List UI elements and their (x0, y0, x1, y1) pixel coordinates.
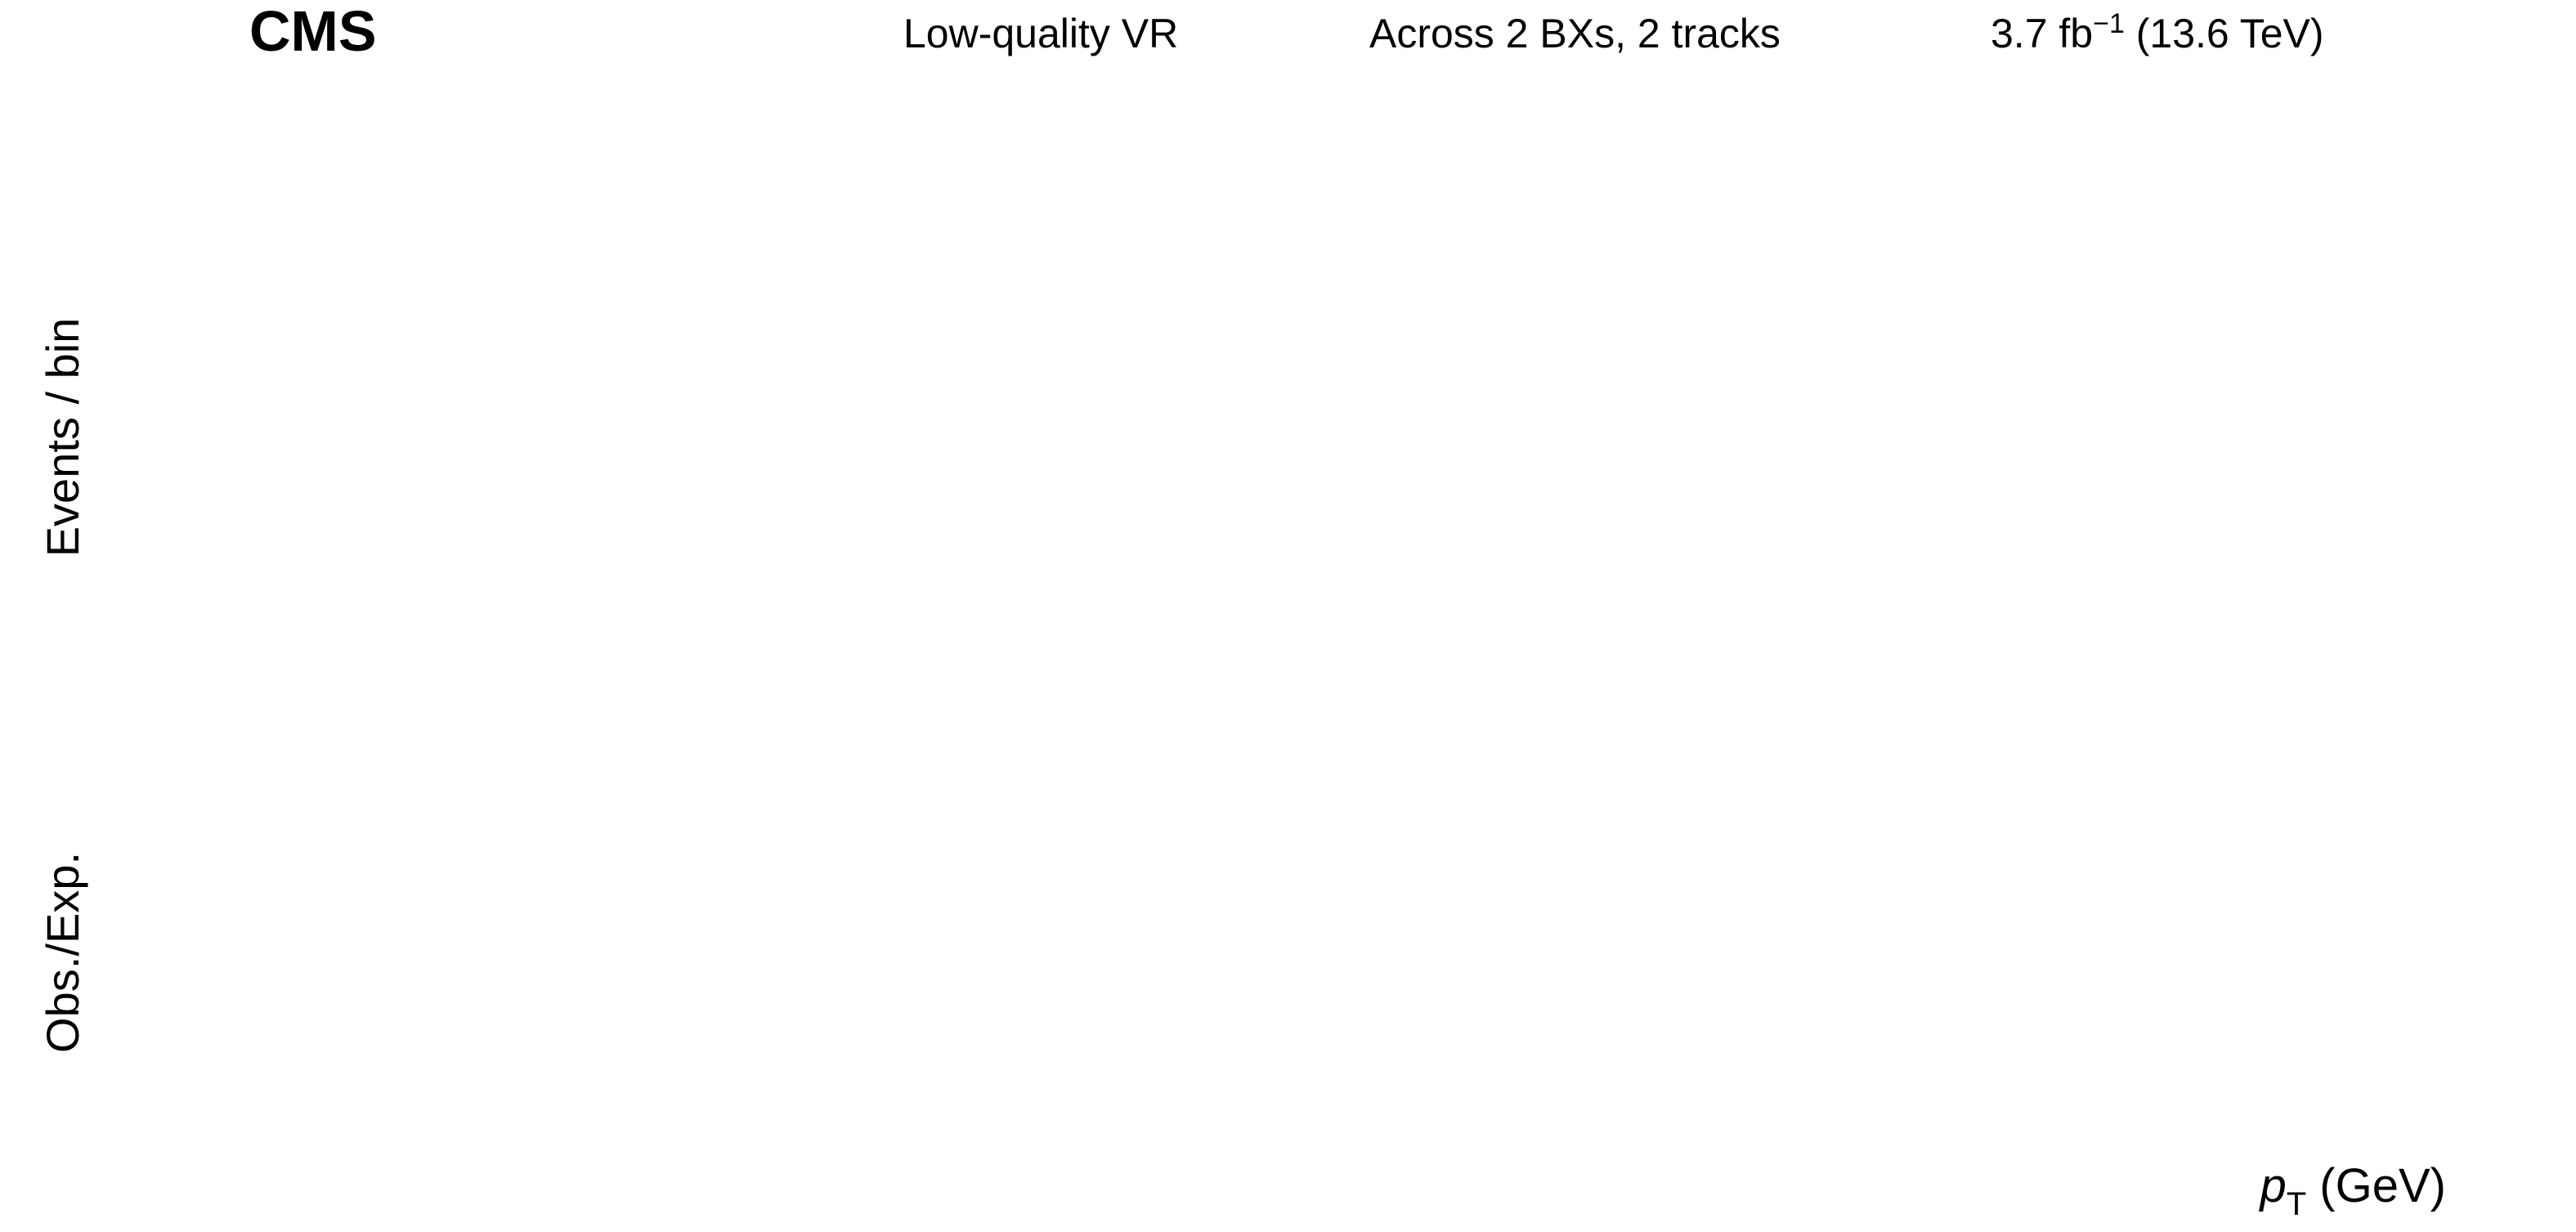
ratio-y-axis-title: Obs./Exp. (37, 852, 88, 1053)
lumi-label: 3.7 fb−1 (13.6 TeV) (1991, 8, 2324, 56)
selection-label: Across 2 BXs, 2 tracks (1369, 11, 1781, 56)
region-title: Low-quality VR (903, 11, 1178, 56)
y-axis-title: Events / bin (37, 318, 88, 558)
figure-svg: CMS Low-quality VR Across 2 BXs, 2 track… (0, 0, 2576, 1232)
cms-plot-figure: CMS Low-quality VR Across 2 BXs, 2 track… (0, 0, 2576, 1232)
x-axis-title: pT (GeV) (2258, 1159, 2446, 1222)
cms-logo: CMS (249, 0, 377, 63)
